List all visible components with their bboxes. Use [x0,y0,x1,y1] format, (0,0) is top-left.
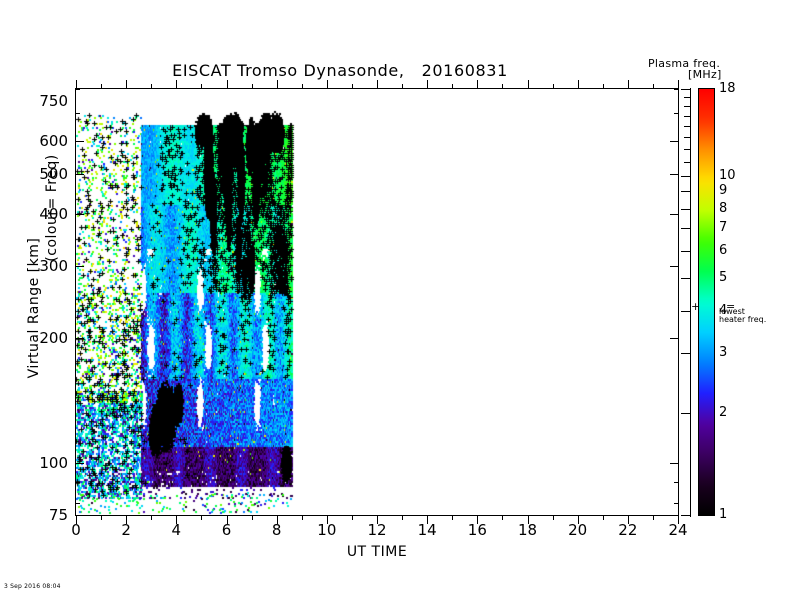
x-axis-tick-top [402,84,403,89]
colorbar [698,88,715,516]
x-axis-tick-top [302,84,303,89]
x-axis-tick-top [653,84,654,89]
x-axis-tick-top [151,84,152,89]
x-axis-tick [402,515,403,520]
x-axis-tick [151,515,152,520]
colorbar-tick-label: 3 [719,345,727,360]
colorbar-tick [684,106,690,107]
x-axis-tick-label: 16 [457,521,497,539]
y-axis-tick-right [670,463,679,464]
y-axis-tick [75,214,84,215]
y-axis-tick-right [674,482,679,483]
x-axis-tick-label: 12 [357,521,397,539]
heater-freq-note: lowest heater freq. [719,308,766,324]
colorbar-tick-label: 10 [719,168,736,183]
x-axis-tick-top [528,80,529,89]
x-axis-tick-label: 6 [207,521,247,539]
heater-freq-plus-icon: + [691,301,700,312]
y-axis-tick [75,503,80,504]
x-axis-tick-top [452,84,453,89]
x-axis-tick-top [352,84,353,89]
colorbar-tick [681,228,690,229]
y-axis-tick-right [670,174,679,175]
y-axis-tick [75,113,80,114]
x-axis-tick-top [628,80,629,89]
colorbar-tick [681,191,690,192]
y-axis-tick [75,141,84,142]
colorbar-tick [681,278,690,279]
x-axis-tick-top [126,80,127,89]
x-axis-tick [252,515,253,520]
x-axis-tick-top [578,80,579,89]
colorbar-tick-label: 2 [719,405,727,420]
x-axis-tick [101,515,102,520]
y-axis-tick-label: 100 [22,454,68,472]
x-axis-tick-label: 22 [608,521,648,539]
colorbar-tick [681,413,690,414]
x-axis-tick-top [101,84,102,89]
colorbar-tick [684,162,690,163]
x-axis-tick-label: 2 [106,521,146,539]
colorbar-tick [684,149,690,150]
x-axis-tick [553,515,554,520]
colorbar-tick [684,97,690,98]
colorbar-tick [684,116,690,117]
generation-timestamp: 3 Sep 2016 08:04 [4,583,61,590]
colorbar-tick [681,209,690,210]
y-axis-tick [75,463,84,464]
colorbar-tick [681,176,690,177]
x-axis-tick [653,515,654,520]
colorbar-tick-label: 9 [719,183,727,198]
colorbar-tick-label: 8 [719,201,727,216]
x-axis-tick-top [477,80,478,89]
x-axis-tick-top [678,80,679,89]
y-axis-tick [75,338,84,339]
x-axis-tick-label: 10 [307,521,347,539]
colorbar-tick [681,353,690,354]
colorbar-tick [681,251,690,252]
x-axis-tick-top [252,84,253,89]
x-axis-tick-top [327,80,328,89]
y-axis-tick [75,174,84,175]
y-axis-tick-right [670,338,679,339]
x-axis-tick-label: 14 [407,521,447,539]
colorbar-tick [681,515,690,516]
colorbar-tick [684,126,690,127]
page-title: EISCAT Tromso Dynasonde, 20160831 [0,61,680,80]
y-axis-tick-right [670,141,679,142]
x-axis-tick-top [603,84,604,89]
x-axis-tick-label: 24 [658,521,698,539]
x-axis-tick-top [227,80,228,89]
ionogram-data-canvas [76,89,678,515]
y-axis-tick-right [674,503,679,504]
x-axis-tick-top [76,80,77,89]
x-axis-tick [452,515,453,520]
x-axis-tick [201,515,202,520]
y-axis-tick-right [670,266,679,267]
x-axis-tick [502,515,503,520]
colorbar-tick [681,89,690,90]
x-axis-tick-label: 20 [558,521,598,539]
x-axis-tick-top [377,80,378,89]
y-axis-tick-right [674,89,679,90]
x-axis-tick-top [502,84,503,89]
heater-note-line2: heater freq. [719,315,766,324]
colorbar-tick-label: 18 [719,81,736,96]
x-axis-tick-label: 4 [156,521,196,539]
colorbar-tick [684,137,690,138]
x-axis-tick-label: 8 [257,521,297,539]
y-axis-tick [75,266,84,267]
colorbar-tick-label: 1 [719,507,727,522]
y-axis-title: Virtual Range [km] [26,188,42,428]
x-axis-tick-top [277,80,278,89]
x-axis-tick-top [201,84,202,89]
x-axis-tick-top [176,80,177,89]
dynasonde-plot-page: EISCAT Tromso Dynasonde, 20160831 024681… [0,0,800,600]
colorbar-unit-label: [MHz] [688,68,768,81]
x-axis-tick-top [553,84,554,89]
colorbar-gradient [699,89,714,515]
colorbar-tick-label: 7 [719,220,727,235]
plot-area [75,88,679,516]
x-axis-tick [352,515,353,520]
y-axis-tick [75,89,80,90]
x-axis-tick [603,515,604,520]
x-axis-tick-label: 18 [508,521,548,539]
colorbar-tick-label: 5 [719,270,727,285]
x-axis-tick-top [427,80,428,89]
y-axis-tick-right [674,113,679,114]
colorbar-tick [681,311,690,312]
y-axis-tick-right [670,214,679,215]
x-axis-title: UT TIME [75,544,679,560]
colorbar-tick-label: 6 [719,243,727,258]
y-axis-tick [75,482,80,483]
y-axis-subtitle: (colour= Freq) [44,88,60,328]
x-axis-tick [302,515,303,520]
y-axis-tick-label: 75 [22,506,68,524]
